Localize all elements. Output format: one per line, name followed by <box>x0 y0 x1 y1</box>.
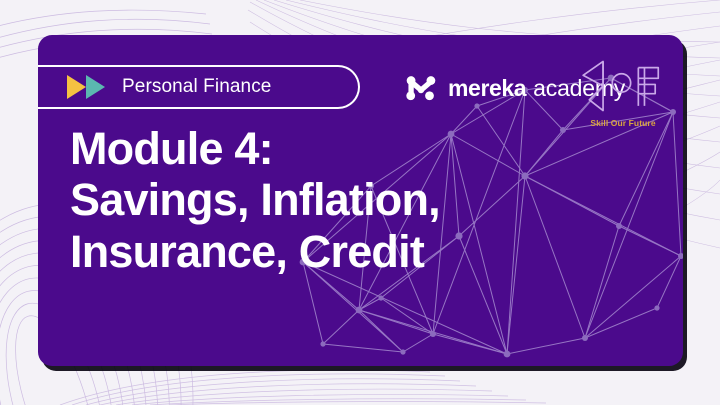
slide-title: Module 4: Savings, Inflation, Insurance,… <box>70 123 440 277</box>
slide-card: Personal Finance mereka academy <box>38 35 683 366</box>
brand-name-bold: mereka <box>448 75 526 102</box>
category-badge[interactable]: Personal Finance <box>38 65 360 109</box>
category-badge-label: Personal Finance <box>122 76 271 98</box>
sof-monogram-icon <box>577 55 669 117</box>
mereka-m-node-logo-icon <box>404 71 438 105</box>
card-header: Personal Finance mereka academy <box>38 65 683 111</box>
skill-our-future-logo: Skill Our Future <box>571 55 675 131</box>
double-play-arrow-icon <box>66 74 108 100</box>
sof-tagline: Skill Our Future <box>590 118 655 128</box>
swirl-bottom-band <box>60 370 546 405</box>
